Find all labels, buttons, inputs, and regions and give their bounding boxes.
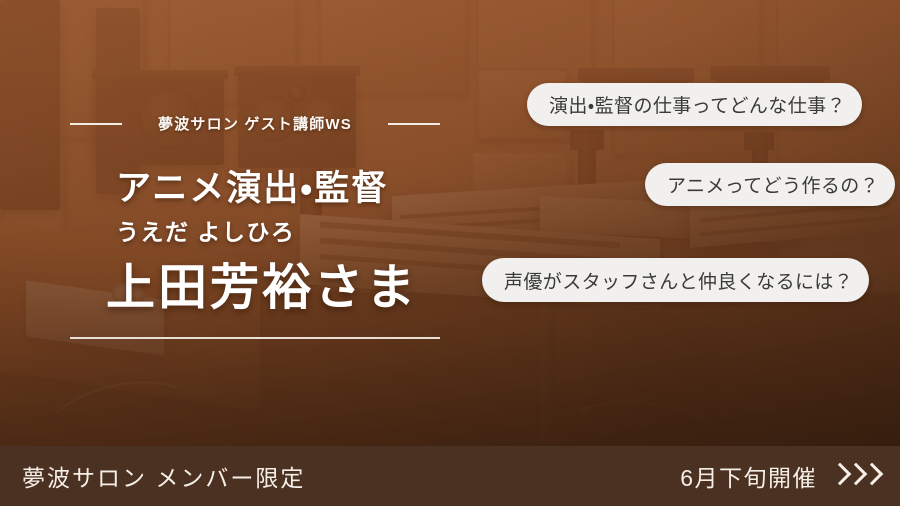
title-main: アニメ演出・監督 [116, 160, 388, 211]
rule-left-icon [70, 123, 122, 125]
eyebrow-label: 夢波サロン ゲスト講師WS [135, 113, 375, 134]
question-bubble-3-text: 声優がスタッフさんと仲良くなるには？ [504, 267, 853, 294]
membership-label: 夢波サロン メンバー限定 [22, 459, 305, 493]
title-kana-reading: うえだ よしひろ [116, 213, 295, 247]
chevron-right-icon [847, 463, 862, 489]
date-group: 6月下旬開催 [680, 459, 878, 493]
speaker-name: 上田芳裕さま [106, 248, 418, 319]
event-date-label: 6月下旬開催 [680, 459, 817, 493]
question-bubble-3: 声優がスタッフさんと仲良くなるには？ [482, 258, 869, 302]
question-bubble-1: 演出・監督の仕事ってどんな仕事？ [527, 83, 862, 126]
question-bubble-2: アニメってどう作るの？ [645, 163, 895, 206]
eyebrow-row: 夢波サロン ゲスト講師WS [70, 113, 440, 134]
chevron-right-icon [863, 463, 878, 489]
question-bubble-2-text: アニメってどう作るの？ [667, 171, 879, 198]
event-banner: 夢波サロン ゲスト講師WS アニメ演出・監督 うえだ よしひろ 上田芳裕さま 演… [0, 0, 900, 506]
bottom-bar: 夢波サロン メンバー限定 6月下旬開催 [0, 446, 900, 506]
question-bubble-1-text: 演出・監督の仕事ってどんな仕事？ [549, 91, 846, 118]
name-underline [70, 337, 440, 339]
chevron-right-icon [831, 463, 846, 489]
chevron-group [831, 463, 878, 489]
rule-right-icon [388, 123, 440, 125]
